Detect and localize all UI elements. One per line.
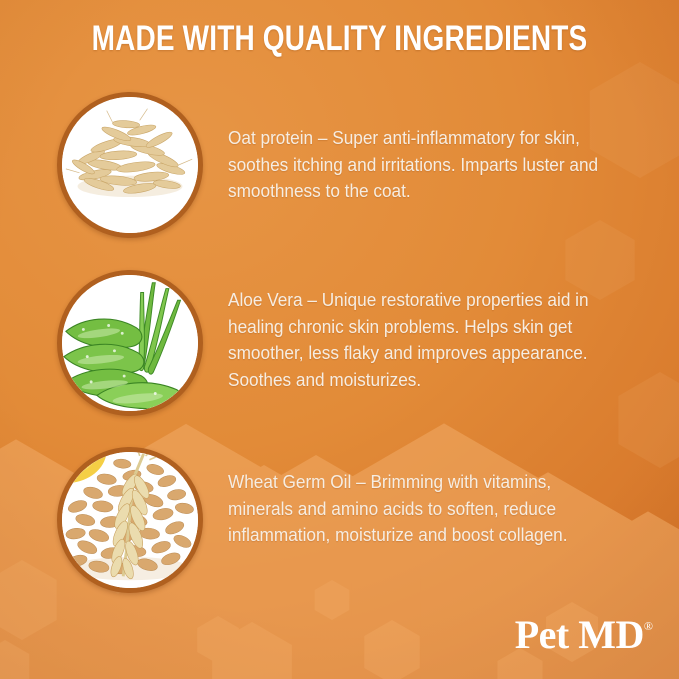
ingredient-description-aloe-vera: Aloe Vera – Unique restorative propertie…: [228, 287, 600, 393]
ingredient-image-aloe-vera: [57, 270, 203, 416]
ingredient-image-oat-protein: [57, 92, 203, 238]
ingredients-infographic: MADE WITH QUALITY INGREDIENTS: [0, 0, 679, 679]
ingredient-description-oat-protein: Oat protein – Super anti-inflammatory fo…: [228, 125, 600, 205]
page-title: MADE WITH QUALITY INGREDIENTS: [68, 21, 611, 56]
registered-trademark-icon: ®: [644, 619, 653, 633]
aloe-vera-leaves-icon: [62, 275, 198, 411]
ingredient-image-wheat-germ-oil: [57, 447, 203, 593]
oat-grains-icon: [62, 97, 198, 233]
brand-name: Pet MD: [515, 612, 644, 657]
brand-logo: Pet MD®: [515, 615, 653, 655]
wheat-grains-icon: [62, 452, 198, 588]
ingredient-description-wheat-germ-oil: Wheat Germ Oil – Brimming with vitamins,…: [228, 469, 600, 549]
